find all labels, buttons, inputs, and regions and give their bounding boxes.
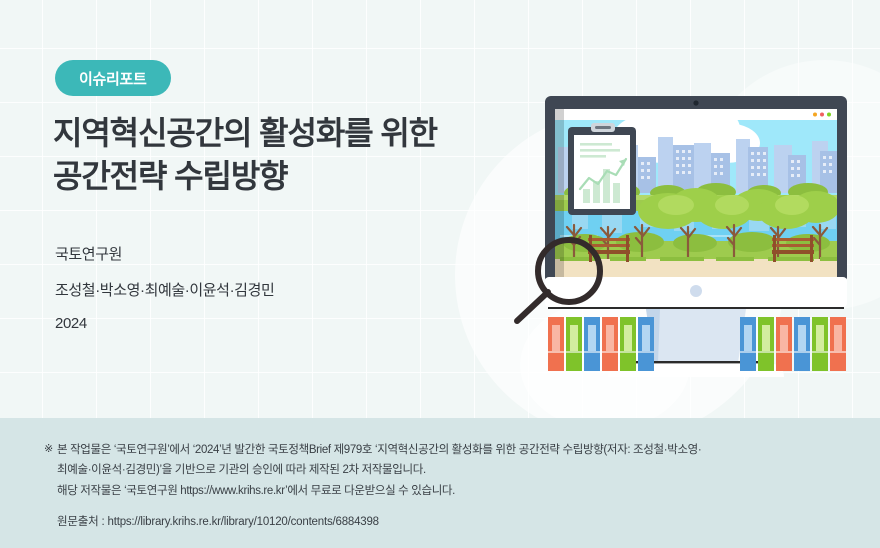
book-stack-left [548, 317, 654, 371]
badge-label: 이슈리포트 [79, 68, 147, 89]
issue-report-badge: 이슈리포트 [55, 60, 171, 96]
source-url-line[interactable]: 원문출처 : https://library.krihs.re.kr/libra… [44, 513, 836, 529]
cover-main-area: 이슈리포트 지역혁신공간의 활성화를 위한 공간전략 수립방향 국토연구원 조성… [0, 0, 880, 418]
title-line-2: 공간전략 수립방향 [53, 155, 523, 198]
title-line-1: 지역혁신공간의 활성화를 위한 [53, 112, 523, 155]
footer-note-line-1: 본 작업물은 ‘국토연구원’에서 ‘2024’년 발간한 국토정책Brief 제… [57, 440, 836, 460]
author-list: 조성철·박소영·최예술·이윤석·김경민 [55, 279, 274, 300]
footer-note-line-3: 해당 저작물은 ‘국토연구원 https://www.krihs.re.kr’에… [57, 481, 836, 501]
footer-note: ※ 본 작업물은 ‘국토연구원’에서 ‘2024’년 발간한 국토정책Brief… [44, 440, 836, 501]
asterisk-icon: ※ [44, 440, 53, 460]
publication-meta: 국토연구원 조성철·박소영·최예술·이윤석·김경민 2024 [55, 243, 274, 332]
page-title: 지역혁신공간의 활성화를 위한 공간전략 수립방향 [53, 112, 523, 198]
publication-year: 2024 [55, 315, 274, 332]
monitor-illustration [490, 85, 880, 405]
copyright-footer: ※ 본 작업물은 ‘국토연구원’에서 ‘2024’년 발간한 국토정책Brief… [0, 418, 880, 548]
footer-note-line-2: 최예술·이윤석·김경민)’을 기반으로 기관의 승인에 따라 제작된 2차 저작… [57, 460, 836, 480]
clipboard-chart [568, 123, 636, 215]
report-cover: 이슈리포트 지역혁신공간의 활성화를 위한 공간전략 수립방향 국토연구원 조성… [0, 0, 880, 548]
book-stack-right [740, 317, 846, 371]
publisher-name: 국토연구원 [55, 243, 274, 264]
